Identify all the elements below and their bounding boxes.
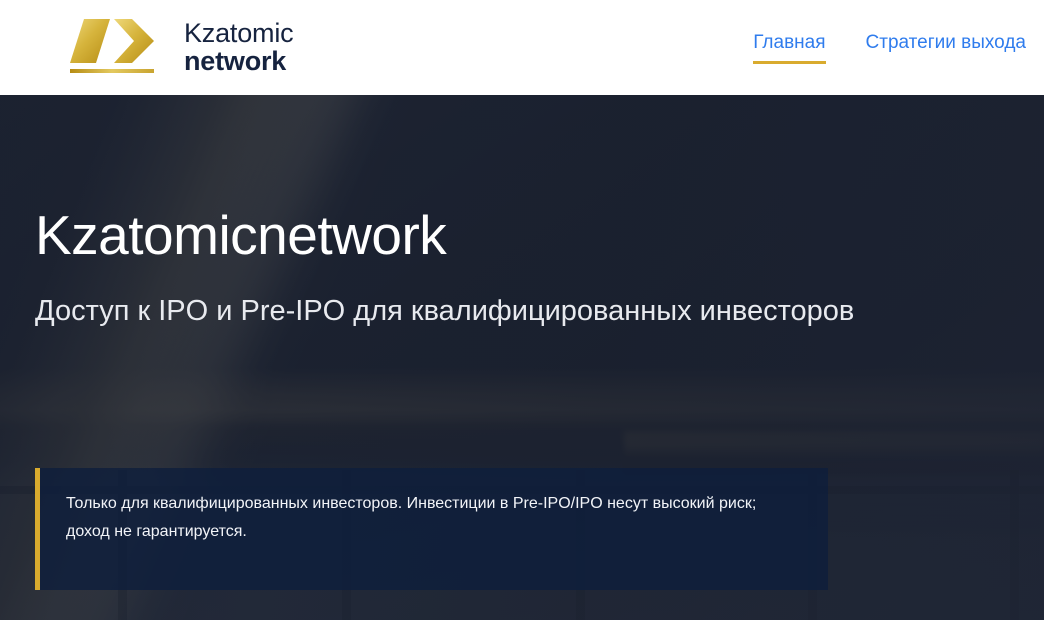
nav-link-home[interactable]: Главная [753,32,825,64]
site-header: Kzatomic network Главная Стратегии выход… [0,0,1044,95]
landing-page: Kzatomic network Главная Стратегии выход… [0,0,1044,620]
brand-name-line1: Kzatomic [184,20,293,48]
hero-content: Kzatomicnetwork Доступ к IPO и Pre-IPO д… [0,95,1044,620]
risk-disclaimer-text: Только для квалифицированных инвесторов.… [66,490,802,545]
brand-wordmark: Kzatomic network [184,20,293,75]
hero-subtitle: Доступ к IPO и Pre-IPO для квалифицирова… [35,295,854,328]
brand-logo[interactable]: Kzatomic network [70,17,293,79]
main-navigation: Главная Стратегии выхода [753,0,1026,95]
brand-name-line2: network [184,48,293,76]
hero-title: Kzatomicnetwork [35,203,446,267]
hero-section: Kzatomicnetwork Доступ к IPO и Pre-IPO д… [0,95,1044,620]
nav-link-exit-strategies[interactable]: Стратегии выхода [866,32,1026,64]
risk-disclaimer-box: Только для квалифицированных инвесторов.… [35,468,828,590]
double-chevron-logo-icon [70,17,166,79]
